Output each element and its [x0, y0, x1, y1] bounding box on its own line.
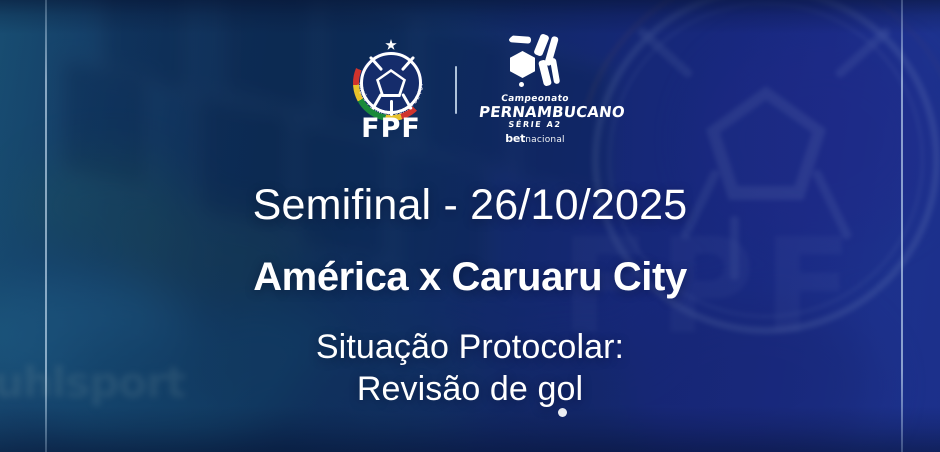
status-value: Revisão de gol [0, 368, 940, 410]
match-text-block: Semifinal - 26/10/2025 América x Caruaru… [0, 178, 940, 410]
competition-ball-icon [507, 34, 563, 90]
round-and-date: Semifinal - 26/10/2025 [0, 178, 940, 232]
bottom-vignette [0, 406, 940, 452]
match-status-graphic: FPF uhlsport FEDERAÇÃO P [0, 0, 940, 452]
logo-row: FEDERAÇÃO PERNAMBUCANA DE FUTEBOL FPF Ca… [0, 36, 940, 144]
campeonato-pernambucano-logo: Campeonato PERNAMBUCANO SÉRIE A2 betnaci… [479, 34, 591, 146]
status-block: Situação Protocolar: Revisão de gol [0, 326, 940, 410]
status-label: Situação Protocolar: [0, 326, 940, 368]
competition-line2: PERNAMBUCANO [478, 104, 592, 120]
sponsor-betnacional-logo: betnacional [479, 133, 591, 146]
svg-text:FEDERAÇÃO PERNAMBUCANA DE FUTE: FEDERAÇÃO PERNAMBUCANA DE FUTEBOL [351, 41, 425, 117]
logo-divider [455, 66, 457, 114]
sponsor-bold: bet [505, 132, 525, 145]
fpf-wordmark: FPF [349, 115, 433, 142]
crest-ring-text: FEDERAÇÃO PERNAMBUCANA DE FUTEBOL [353, 45, 429, 121]
competition-line3: SÉRIE A2 [478, 120, 591, 130]
match-teams: América x Caruaru City [0, 254, 940, 300]
fpf-crest-logo: FEDERAÇÃO PERNAMBUCANA DE FUTEBOL FPF [349, 38, 433, 142]
sponsor-light: nacional [525, 135, 565, 145]
